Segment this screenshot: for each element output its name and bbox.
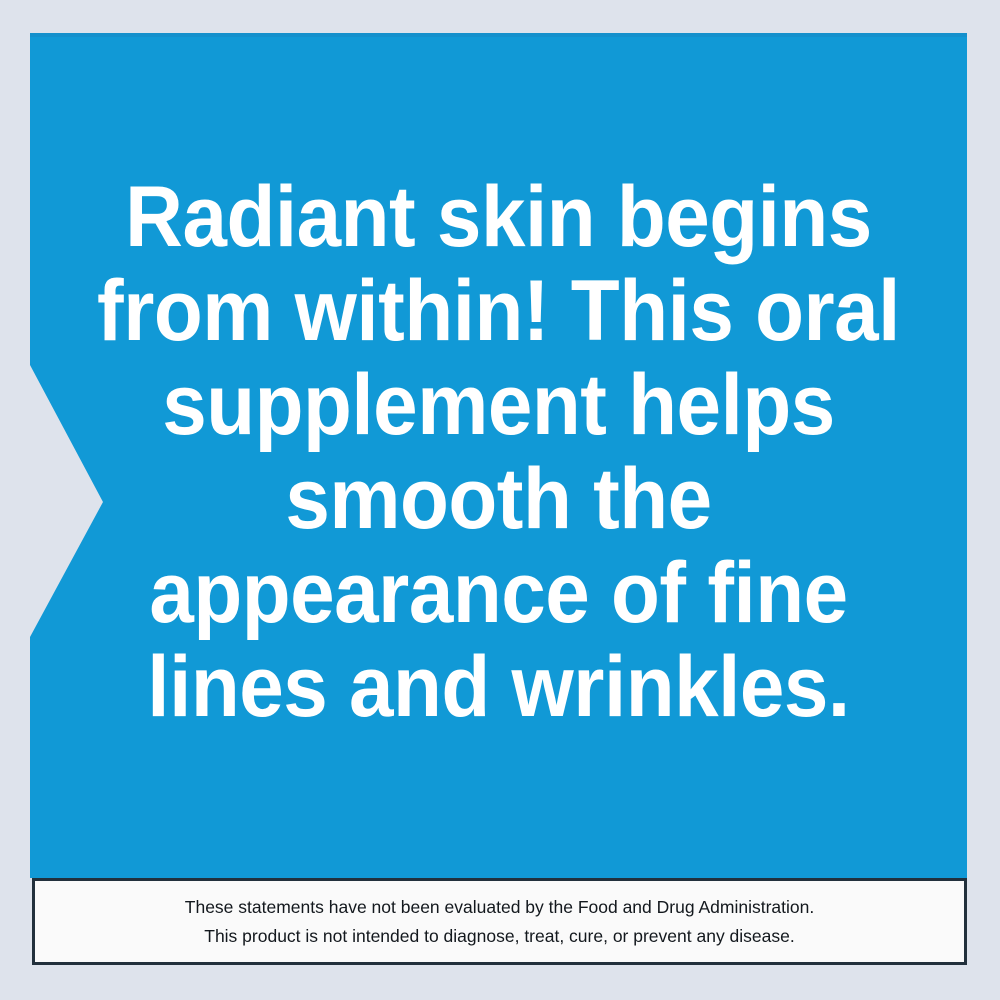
promo-graphic: Radiant skin begins from within! This or… <box>0 0 1000 1000</box>
fda-disclaimer-box: These statements have not been evaluated… <box>32 878 967 965</box>
disclaimer-line-2: This product is not intended to diagnose… <box>204 922 795 951</box>
headline-text: Radiant skin begins from within! This or… <box>63 170 934 734</box>
disclaimer-line-1: These statements have not been evaluated… <box>185 893 814 922</box>
